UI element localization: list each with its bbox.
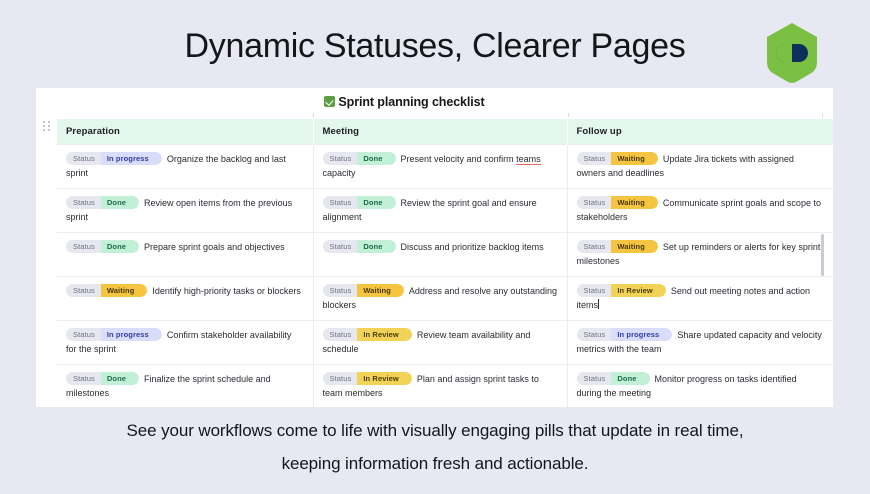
cell-meeting[interactable]: StatusDoneReview the sprint goal and ens… — [313, 189, 567, 233]
status-pill-label: Status — [577, 196, 612, 209]
status-pill[interactable]: StatusIn Review — [323, 328, 412, 341]
checklist-table: Preparation Meeting Follow up StatusIn p… — [57, 119, 833, 407]
status-pill[interactable]: StatusIn Review — [577, 284, 666, 297]
status-pill-label: Status — [577, 328, 612, 341]
white-heavy-check-mark-icon — [324, 96, 335, 107]
column-resize-tick[interactable] — [822, 113, 823, 117]
status-pill-value: In progress — [611, 328, 672, 341]
cell-preparation[interactable]: StatusIn progressOrganize the backlog an… — [57, 145, 313, 189]
cell-preparation[interactable]: StatusDonePrepare sprint goals and objec… — [57, 233, 313, 277]
task-text-pre: Present velocity and confirm — [401, 154, 517, 164]
table-header-row: Preparation Meeting Follow up — [57, 119, 833, 145]
table-row: StatusDoneReview open items from the pre… — [57, 189, 833, 233]
cell-followup[interactable]: StatusWaitingSet up reminders or alerts … — [567, 233, 833, 277]
status-pill-label: Status — [577, 152, 612, 165]
status-pill-value: Done — [101, 240, 139, 253]
cell-meeting[interactable]: StatusDonePresent velocity and confirm t… — [313, 145, 567, 189]
cell-meeting[interactable]: StatusIn ReviewPlan and assign sprint ta… — [313, 365, 567, 408]
task-text: Prepare sprint goals and objectives — [144, 242, 285, 252]
status-pill-value: Waiting — [357, 284, 404, 297]
cell-meeting[interactable]: StatusDoneDiscuss and prioritize backlog… — [313, 233, 567, 277]
status-pill-value: Done — [357, 152, 395, 165]
page-title: Dynamic Statuses, Clearer Pages — [0, 27, 870, 66]
status-pill-value: In Review — [357, 372, 412, 385]
checklist-table-wrapper: Preparation Meeting Follow up StatusIn p… — [57, 119, 833, 407]
cell-followup[interactable]: StatusWaitingUpdate Jira tickets with as… — [567, 145, 833, 189]
caption-line-1: See your workflows come to life with vis… — [22, 414, 848, 447]
status-pill-label: Status — [323, 372, 358, 385]
status-pill-value: Done — [101, 196, 139, 209]
caption-line-2: keeping information fresh and actionable… — [22, 447, 848, 480]
status-pill-value: Done — [101, 372, 139, 385]
status-pill[interactable]: StatusWaiting — [577, 152, 658, 165]
table-body: StatusIn progressOrganize the backlog an… — [57, 145, 833, 408]
status-pill-label: Status — [66, 328, 101, 341]
status-pill[interactable]: StatusDone — [323, 152, 396, 165]
table-row: StatusDoneFinalize the sprint schedule a… — [57, 365, 833, 408]
status-pill-value: Done — [611, 372, 649, 385]
status-pill[interactable]: StatusIn progress — [66, 328, 162, 341]
status-pill[interactable]: StatusWaiting — [66, 284, 147, 297]
cell-followup[interactable]: StatusDoneMonitor progress on tasks iden… — [567, 365, 833, 408]
status-pill-value: In progress — [101, 328, 162, 341]
status-pill-label: Status — [577, 240, 612, 253]
status-pill-value: Done — [357, 196, 395, 209]
status-pill-value: Waiting — [611, 240, 658, 253]
toggle-pill-hexagon-logo-icon — [764, 22, 820, 84]
status-pill[interactable]: StatusDone — [66, 372, 139, 385]
task-text-post: capacity — [323, 168, 356, 178]
status-pill-label: Status — [66, 240, 101, 253]
cell-preparation[interactable]: StatusDoneFinalize the sprint schedule a… — [57, 365, 313, 408]
status-pill-value: Waiting — [611, 196, 658, 209]
column-header-preparation[interactable]: Preparation — [57, 119, 313, 145]
status-pill[interactable]: StatusDone — [323, 196, 396, 209]
status-pill-label: Status — [66, 284, 101, 297]
status-pill-value: Waiting — [101, 284, 148, 297]
status-pill-value: In progress — [101, 152, 162, 165]
status-pill[interactable]: StatusWaiting — [577, 240, 658, 253]
status-pill-label: Status — [323, 328, 358, 341]
status-pill[interactable]: StatusDone — [66, 240, 139, 253]
status-pill[interactable]: StatusIn progress — [66, 152, 162, 165]
column-header-followup[interactable]: Follow up — [567, 119, 833, 145]
status-pill[interactable]: StatusDone — [66, 196, 139, 209]
status-pill-value: In Review — [357, 328, 412, 341]
table-row: StatusDonePrepare sprint goals and objec… — [57, 233, 833, 277]
cell-preparation[interactable]: StatusDoneReview open items from the pre… — [57, 189, 313, 233]
card-title-text: Sprint planning checklist — [338, 95, 484, 109]
status-pill-label: Status — [577, 372, 612, 385]
status-pill[interactable]: StatusIn progress — [577, 328, 673, 341]
column-header-meeting[interactable]: Meeting — [313, 119, 567, 145]
status-pill-value: Done — [357, 240, 395, 253]
status-pill[interactable]: StatusDone — [577, 372, 650, 385]
status-pill-label: Status — [323, 240, 358, 253]
status-pill-label: Status — [323, 284, 358, 297]
caption: See your workflows come to life with vis… — [0, 414, 870, 480]
table-row: StatusIn progressConfirm stakeholder ava… — [57, 321, 833, 365]
card-title: Sprint planning checklist — [36, 94, 833, 110]
status-pill-label: Status — [66, 372, 101, 385]
cell-followup[interactable]: StatusIn progressShare updated capacity … — [567, 321, 833, 365]
misspelled-word: teams — [516, 154, 541, 165]
status-pill[interactable]: StatusIn Review — [323, 372, 412, 385]
checklist-card: Sprint planning checklist Preparation Me… — [36, 88, 833, 407]
page-header: Dynamic Statuses, Clearer Pages — [0, 0, 870, 88]
status-pill-label: Status — [66, 196, 101, 209]
task-text: Discuss and prioritize backlog items — [401, 242, 544, 252]
status-pill-label: Status — [323, 152, 358, 165]
status-pill-label: Status — [66, 152, 101, 165]
status-pill-value: In Review — [611, 284, 666, 297]
table-row: StatusWaitingIdentify high-priority task… — [57, 277, 833, 321]
status-pill[interactable]: StatusWaiting — [577, 196, 658, 209]
status-pill-label: Status — [323, 196, 358, 209]
column-resize-tick[interactable] — [313, 113, 314, 117]
status-pill-value: Waiting — [611, 152, 658, 165]
text-cursor — [598, 299, 599, 309]
cell-followup[interactable]: StatusWaitingCommunicate sprint goals an… — [567, 189, 833, 233]
vertical-scrollbar[interactable] — [821, 234, 824, 276]
column-resize-tick[interactable] — [568, 113, 569, 117]
status-pill-label: Status — [577, 284, 612, 297]
cell-preparation[interactable]: StatusIn progressConfirm stakeholder ava… — [57, 321, 313, 365]
cell-meeting[interactable]: StatusIn ReviewReview team availability … — [313, 321, 567, 365]
cell-meeting[interactable]: StatusWaitingAddress and resolve any out… — [313, 277, 567, 321]
task-text: Identify high-priority tasks or blockers — [152, 286, 301, 296]
row-drag-handle[interactable] — [43, 121, 51, 132]
status-pill[interactable]: StatusWaiting — [323, 284, 404, 297]
status-pill[interactable]: StatusDone — [323, 240, 396, 253]
cell-preparation[interactable]: StatusWaitingIdentify high-priority task… — [57, 277, 313, 321]
cell-followup[interactable]: StatusIn ReviewSend out meeting notes an… — [567, 277, 833, 321]
table-row: StatusIn progressOrganize the backlog an… — [57, 145, 833, 189]
